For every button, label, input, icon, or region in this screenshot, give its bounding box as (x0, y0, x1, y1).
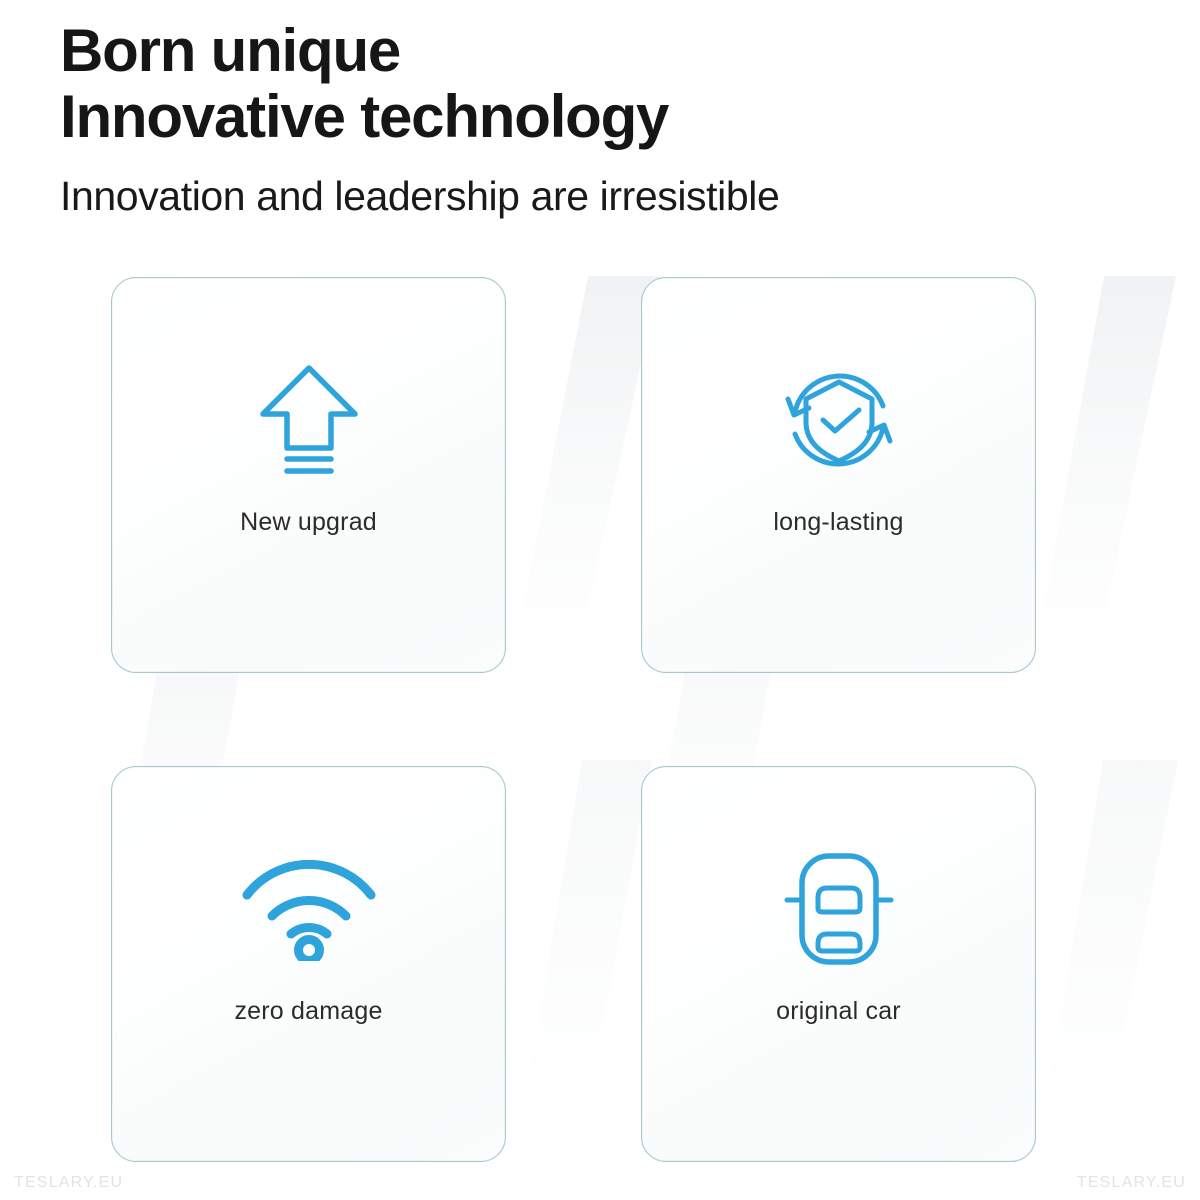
shield-check-refresh-icon (769, 356, 909, 484)
car-front-icon (769, 845, 909, 973)
page-subtitle: Innovation and leadership are irresistib… (60, 172, 779, 220)
feature-card-label: zero damage (234, 997, 382, 1026)
page-title-line-2: Innovative technology (60, 84, 779, 150)
watermark-left: TESLARY.EU (14, 1174, 123, 1192)
feature-card-new-upgrad[interactable]: New upgrad (111, 277, 506, 673)
feature-card-original-car[interactable]: original car (641, 766, 1036, 1162)
background-shard (1032, 276, 1182, 676)
feature-card-label: long-lasting (773, 508, 903, 537)
promo-page: Born uniqueInnovative technology Innovat… (0, 0, 1200, 1200)
feature-card-label: original car (776, 997, 901, 1026)
feature-card-long-lasting[interactable]: long-lasting (641, 277, 1036, 673)
page-title: Born uniqueInnovative technology (60, 18, 779, 150)
watermark-right: TESLARY.EU (1077, 1174, 1186, 1192)
wifi-signal-icon (239, 845, 379, 973)
page-title-line-1: Born unique (60, 17, 400, 84)
background-shard (1034, 760, 1184, 1180)
upgrade-arrow-icon (239, 356, 379, 484)
feature-card-grid: New upgrad long-lasting (111, 277, 1036, 1162)
feature-card-label: New upgrad (240, 508, 377, 537)
feature-card-zero-damage[interactable]: zero damage (111, 766, 506, 1162)
header-block: Born uniqueInnovative technology Innovat… (60, 18, 779, 220)
